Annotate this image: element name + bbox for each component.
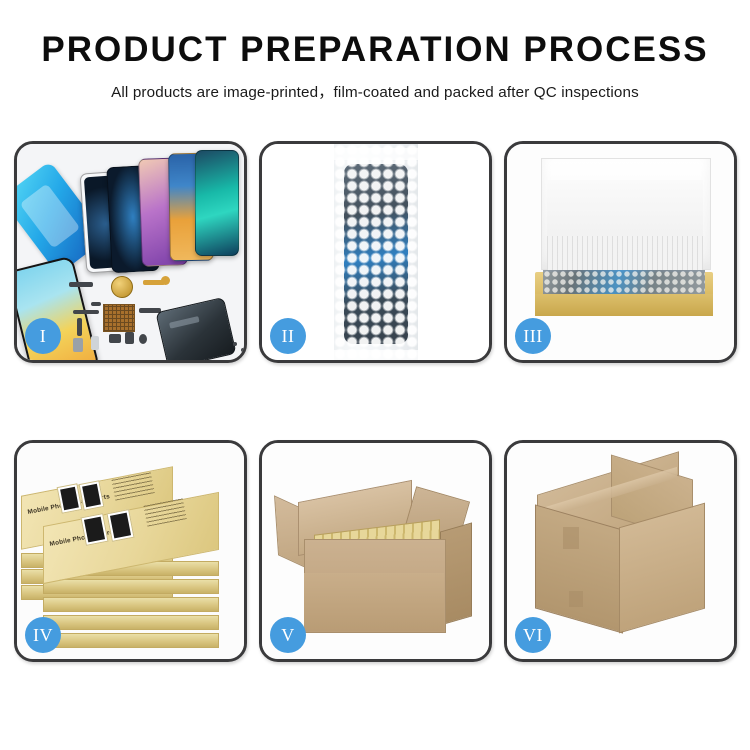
page-subtitle: All products are image-printed，film-coat…: [0, 80, 750, 102]
wrapped-item-in-box: [543, 270, 705, 296]
carton-front-panel: [304, 573, 444, 631]
phone-screen-fan: [79, 150, 239, 278]
process-step-1: I: [14, 141, 247, 363]
bubble-highlight-icon: [334, 144, 418, 360]
step-badge-4: IV: [25, 617, 61, 653]
step-badge-3: III: [515, 318, 551, 354]
phone-screen-icon: [195, 150, 239, 256]
header: PRODUCT PREPARATION PROCESS All products…: [0, 0, 750, 102]
step-numeral: III: [523, 326, 542, 347]
process-step-2: II: [259, 141, 492, 363]
step-badge-1: I: [25, 318, 61, 354]
copper-mesh-icon: [103, 304, 135, 332]
step-badge-5: V: [270, 617, 306, 653]
process-step-3: III: [504, 141, 737, 363]
step-numeral: VI: [523, 625, 543, 646]
vibration-motor-icon: [111, 276, 133, 298]
process-step-6: VI: [504, 440, 737, 662]
step-badge-6: VI: [515, 617, 551, 653]
process-step-4: Mobile Phone Spare Parts Mobile Phone Sp…: [14, 440, 247, 662]
step-numeral: II: [282, 326, 295, 347]
page-title: PRODUCT PREPARATION PROCESS: [0, 32, 750, 69]
step-badge-2: II: [270, 318, 306, 354]
spare-parts-group: [69, 274, 244, 360]
step-numeral: I: [40, 326, 47, 347]
process-grid: I II: [14, 141, 736, 662]
process-step-5: V: [259, 440, 492, 662]
step-numeral: IV: [33, 625, 53, 646]
phone-back-housing-icon: [155, 297, 236, 360]
kraft-box-front: [535, 294, 713, 316]
step-numeral: V: [281, 625, 295, 646]
infographic-page: PRODUCT PREPARATION PROCESS All products…: [0, 0, 750, 750]
